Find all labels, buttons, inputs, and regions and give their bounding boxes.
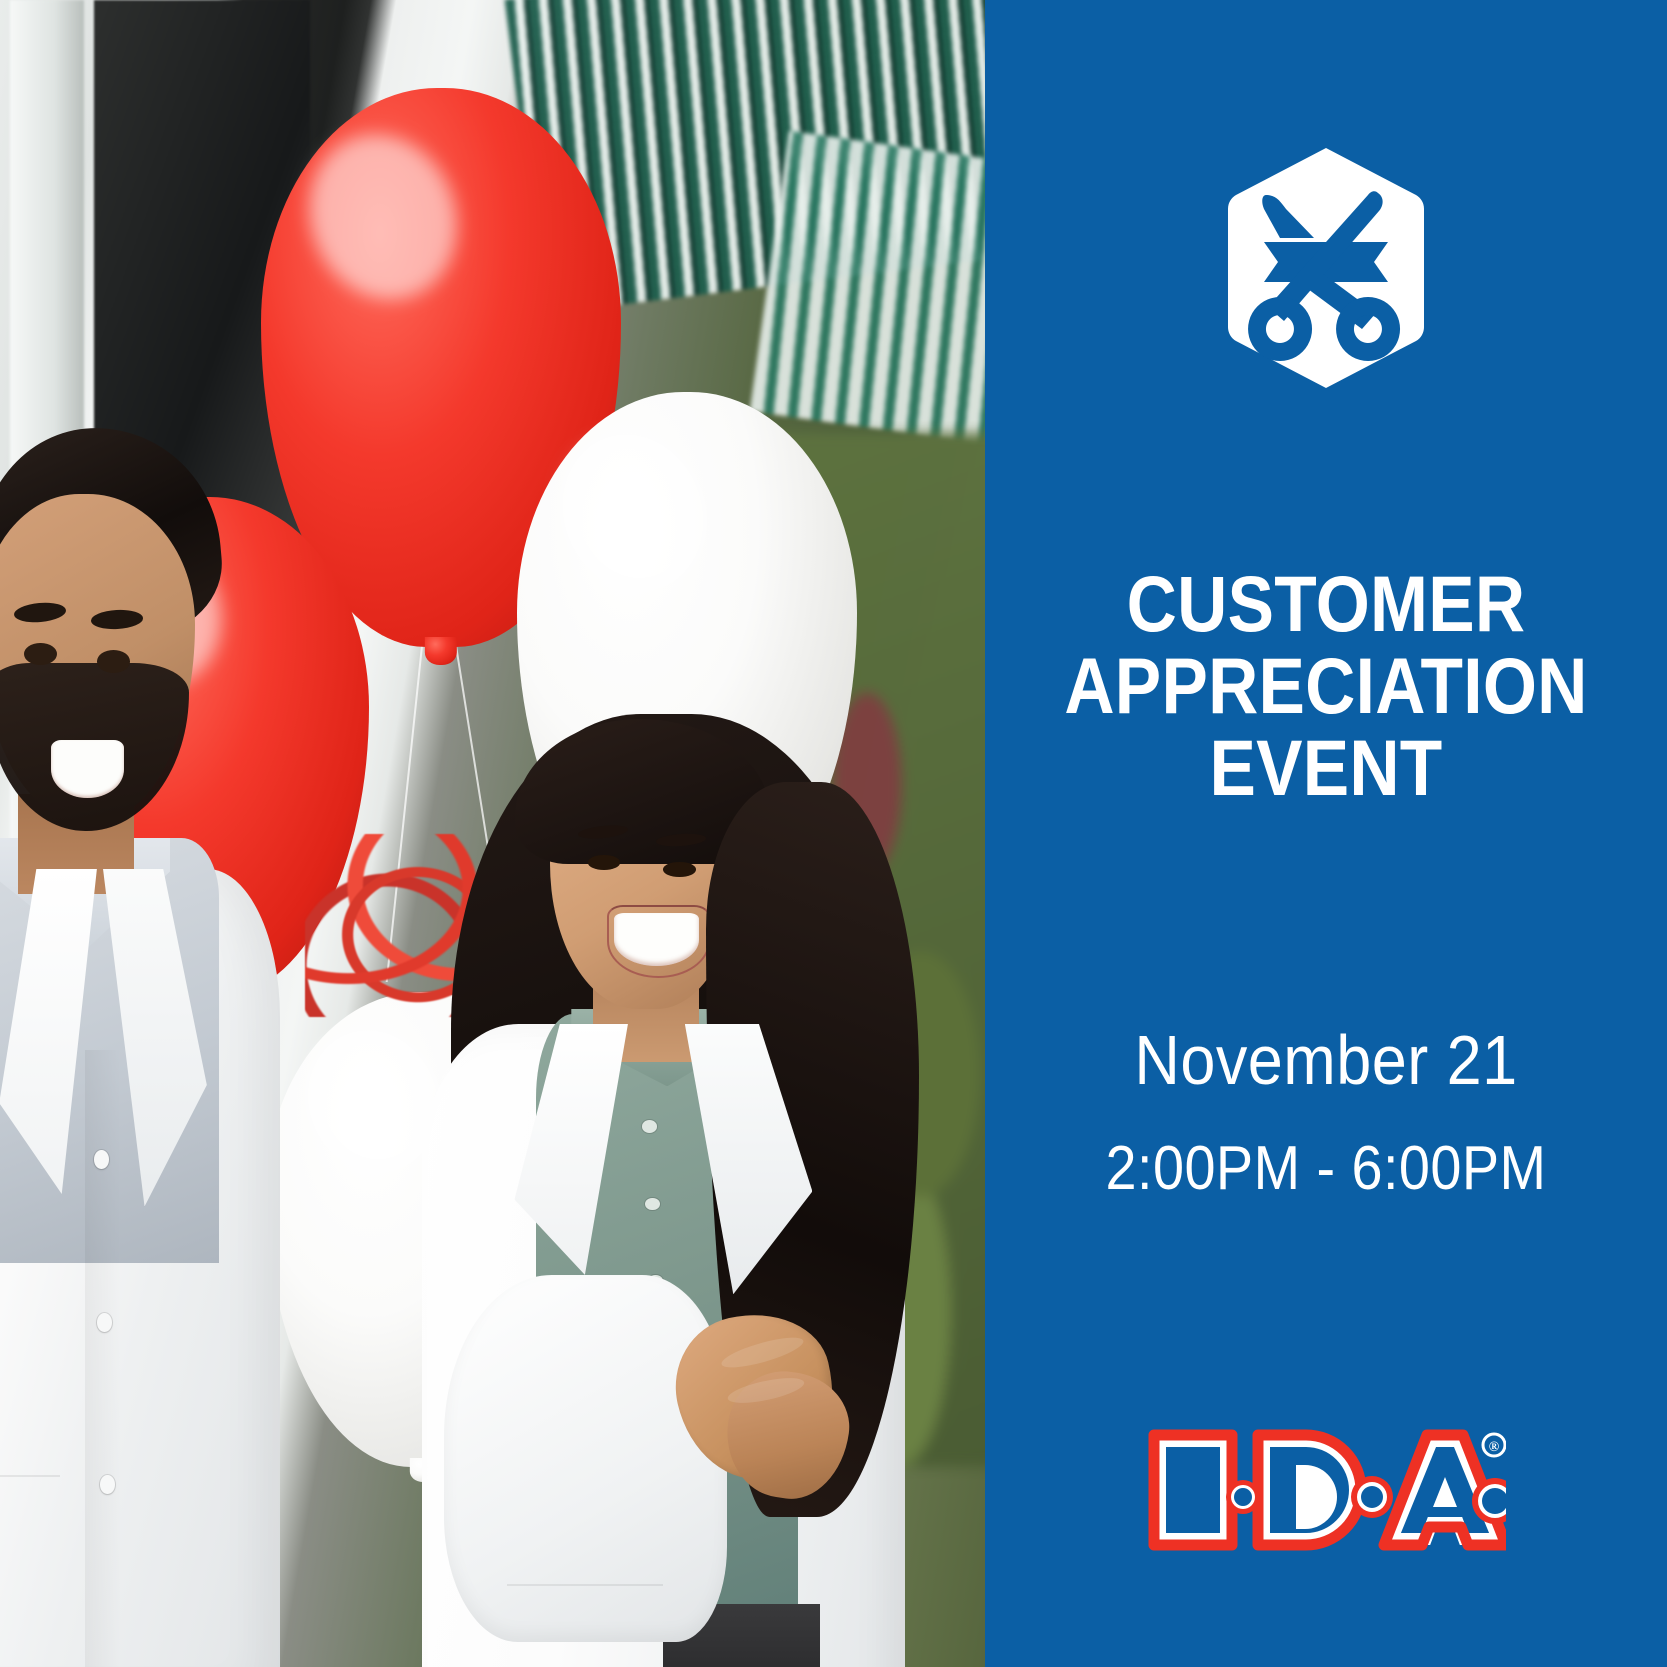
storefront-awning-secondary	[750, 131, 985, 453]
registered-trademark-icon: ®	[1483, 1434, 1505, 1456]
promo-poster: CUSTOMER APPRECIATION EVENT November 21 …	[0, 0, 1667, 1667]
headline: CUSTOMER APPRECIATION EVENT	[1026, 563, 1626, 808]
info-panel: CUSTOMER APPRECIATION EVENT November 21 …	[985, 0, 1667, 1667]
headline-line-3: EVENT	[1026, 727, 1626, 809]
ribbon-cutting-scissors-icon	[1218, 145, 1434, 391]
badge-container	[985, 145, 1667, 391]
smile	[51, 740, 124, 798]
event-time: 2:00PM - 6:00PM	[1019, 1137, 1633, 1201]
event-photo	[0, 0, 985, 1667]
ida-pharmacy-logo: ®	[1146, 1415, 1506, 1565]
lab-coat-pocket	[0, 1475, 60, 1665]
headline-line-1: CUSTOMER	[1026, 563, 1626, 645]
eye	[588, 855, 621, 870]
eye	[663, 862, 696, 877]
smile	[614, 913, 699, 965]
lab-coat-button	[94, 1150, 109, 1169]
registered-trademark-glyph: ®	[1489, 1440, 1500, 1455]
event-date: November 21	[1019, 1024, 1633, 1097]
blouse-button	[642, 1120, 657, 1133]
lab-coat-button	[97, 1313, 112, 1332]
eye	[97, 650, 130, 673]
blouse-button	[645, 1198, 660, 1211]
lab-coat-button	[100, 1475, 115, 1494]
lab-coat-pocket	[507, 1584, 663, 1667]
logo-separator-dot	[1226, 1480, 1260, 1514]
logo-separator-dot	[1351, 1476, 1393, 1518]
logo-letter-i	[1160, 1441, 1226, 1539]
event-details: November 21 2:00PM - 6:00PM	[1019, 1024, 1633, 1201]
headline-line-2: APPRECIATION	[1026, 645, 1626, 727]
eye	[24, 643, 57, 666]
lab-coat-placket	[85, 1050, 122, 1667]
ida-logo: ®	[985, 1415, 1667, 1565]
pharmacist-female	[394, 733, 985, 1667]
